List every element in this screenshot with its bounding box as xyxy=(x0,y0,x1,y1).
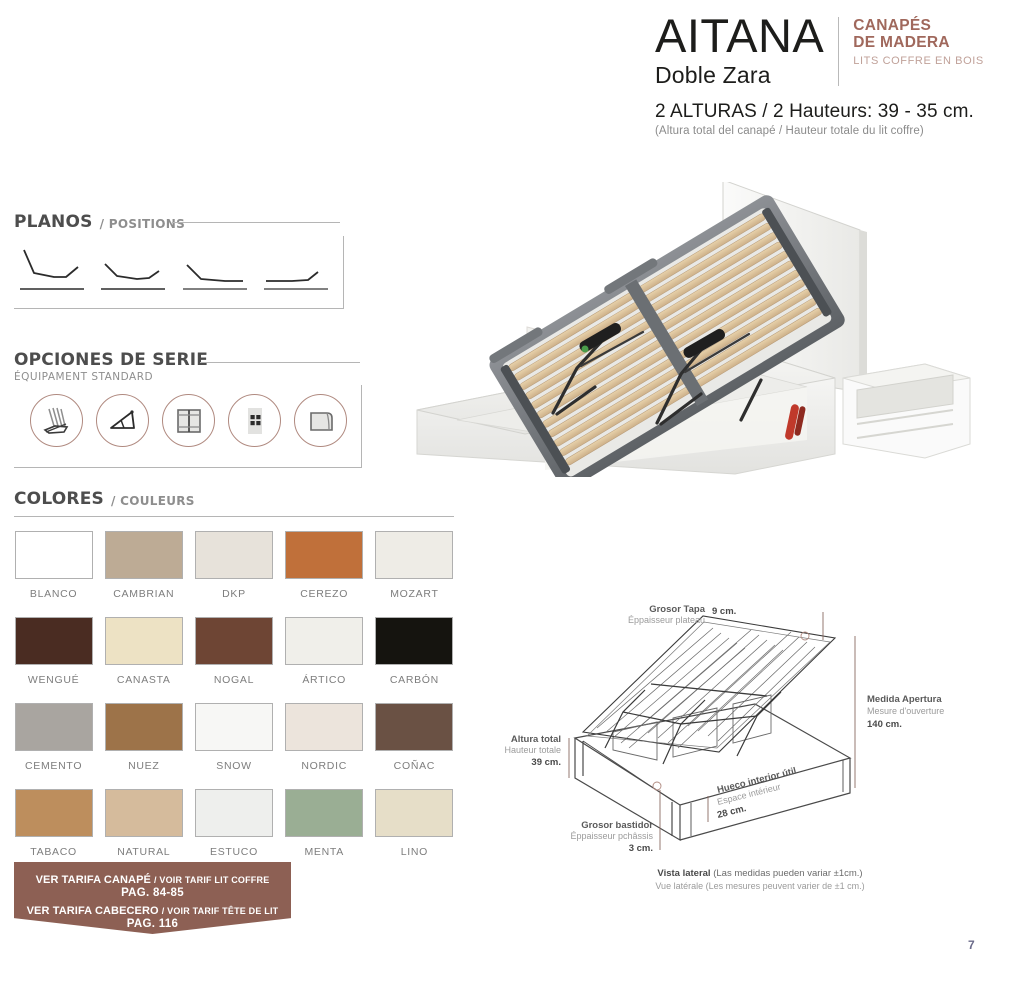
color-swatch[interactable] xyxy=(195,703,273,751)
color-swatch-cell: CEREZO xyxy=(285,531,364,617)
position-diagram-3 xyxy=(181,246,256,299)
color-swatch-label: LINO xyxy=(375,846,454,858)
color-swatch-cell: NOGAL xyxy=(194,617,273,703)
tarifa-line2: VER TARIFA CABECERO / VOIR TARIF TÊTE DE… xyxy=(14,904,291,918)
color-swatch[interactable] xyxy=(375,617,453,665)
color-swatch-grid: BLANCOCAMBRIANDKPCEREZOMOZARTWENGUÉCANAS… xyxy=(14,531,454,875)
bastidor-val: 3 cm. xyxy=(629,843,653,854)
model-name: Doble Zara xyxy=(655,62,824,88)
opciones-title-fr: ÉQUIPAMENT STANDARD xyxy=(14,371,362,383)
color-swatch[interactable] xyxy=(195,531,273,579)
color-swatch-label: CEREZO xyxy=(285,588,364,600)
category-fr: LITS COFFRE EN BOIS xyxy=(853,54,984,69)
planos-box xyxy=(14,236,344,309)
page-number: 7 xyxy=(968,938,975,952)
category-es-line1: CANAPÉS xyxy=(853,17,984,34)
color-swatch-label: ÁRTICO xyxy=(285,674,364,686)
color-swatch[interactable] xyxy=(15,531,93,579)
bastidor-es: Grosor bastidor xyxy=(581,820,653,831)
color-swatch-cell: NORDIC xyxy=(285,703,364,789)
color-swatch-cell: WENGUÉ xyxy=(14,617,93,703)
color-swatch-cell: MOZART xyxy=(375,531,454,617)
tarifa-line2-es: VER TARIFA CABECERO xyxy=(27,905,159,917)
color-swatch-label: TABACO xyxy=(14,846,93,858)
color-swatch-label: MENTA xyxy=(285,846,364,858)
color-swatch-label: DKP xyxy=(194,588,273,600)
color-swatch-cell: CANASTA xyxy=(104,617,183,703)
color-swatch[interactable] xyxy=(285,531,363,579)
color-swatch-cell: CEMENTO xyxy=(14,703,93,789)
apertura-es: Medida Apertura xyxy=(867,694,942,705)
position-diagram-1 xyxy=(18,246,93,299)
opciones-heading: OPCIONES DE SERIE ÉQUIPAMENT STANDARD xyxy=(14,350,362,383)
vista-line-es: Vista lateral (Las medidas pueden variar… xyxy=(560,868,960,879)
vista-es-note: (Las medidas pueden variar ±1cm.) xyxy=(713,868,862,879)
tarifa-line1: VER TARIFA CANAPÉ / VOIR TARIF LIT COFFR… xyxy=(14,873,291,887)
opciones-title-es: OPCIONES DE SERIE xyxy=(14,350,362,370)
color-swatch-cell: COÑAC xyxy=(375,703,454,789)
positions-row xyxy=(14,236,343,299)
heights-text: 2 ALTURAS / 2 Hauteurs: 39 - 35 cm. xyxy=(655,101,1000,123)
altura-es: Altura total xyxy=(511,734,561,745)
tarifa-line1-fr: / VOIR TARIF LIT COFFRE xyxy=(154,875,269,885)
color-swatch-label: WENGUÉ xyxy=(14,674,93,686)
apertura-val: 140 cm. xyxy=(867,719,902,730)
color-swatch[interactable] xyxy=(195,617,273,665)
tarifa-line1-page: PAG. 84-85 xyxy=(14,887,291,899)
color-swatch[interactable] xyxy=(375,789,453,837)
colores-title-fr: / COULEURS xyxy=(111,494,195,509)
color-swatch-label: NUEZ xyxy=(104,760,183,772)
title-block: AITANA Doble Zara CANAPÉS DE MADERA LITS… xyxy=(655,14,1000,88)
position-diagram-4 xyxy=(262,246,337,299)
color-swatch[interactable] xyxy=(375,703,453,751)
grid-panel-icon xyxy=(228,394,281,447)
heights-note: (Altura total del canapé / Hauteur total… xyxy=(655,125,1000,137)
apertura-fr: Mesure d'ouverture xyxy=(867,706,944,716)
color-swatch-label: COÑAC xyxy=(375,760,454,772)
grosor-tapa-fr: Éppaisseur plateau xyxy=(628,615,705,625)
color-swatch[interactable] xyxy=(105,617,183,665)
color-swatch-label: MOZART xyxy=(375,588,454,600)
color-swatch[interactable] xyxy=(15,703,93,751)
color-swatch-label: CEMENTO xyxy=(14,760,93,772)
tarifa-banner[interactable]: VER TARIFA CANAPÉ / VOIR TARIF LIT COFFR… xyxy=(14,862,291,934)
color-swatch[interactable] xyxy=(105,703,183,751)
tarifa-line2-page: PAG. 116 xyxy=(14,918,291,930)
tarifa-line2-fr: / VOIR TARIF TÊTE DE LIT xyxy=(162,906,279,916)
category-block: CANAPÉS DE MADERA LITS COFFRE EN BOIS xyxy=(839,14,984,69)
color-swatch-label: BLANCO xyxy=(14,588,93,600)
color-swatch-cell: DKP xyxy=(194,531,273,617)
color-swatch-label: CAMBRIAN xyxy=(104,588,183,600)
color-swatch[interactable] xyxy=(285,617,363,665)
vista-line-fr: Vue latérale (Les mesures peuvent varier… xyxy=(560,881,960,891)
brand-block: AITANA Doble Zara xyxy=(655,14,838,88)
bastidor-fr: Éppaisseur pchâssis xyxy=(570,831,653,841)
color-swatch-cell: SNOW xyxy=(194,703,273,789)
split-base-icon xyxy=(162,394,215,447)
lift-mechanism-icon xyxy=(96,394,149,447)
planos-title-es: PLANOS xyxy=(14,212,93,232)
colores-heading: COLORES / COULEURS xyxy=(14,489,454,509)
color-swatch-cell: CARBÓN xyxy=(375,617,454,703)
vista-caption: Vista lateral (Las medidas pueden variar… xyxy=(560,868,960,891)
color-swatch[interactable] xyxy=(195,789,273,837)
color-swatch-label: NATURAL xyxy=(104,846,183,858)
product-photo xyxy=(405,182,1005,477)
color-swatch-label: ESTUCO xyxy=(194,846,273,858)
page-header: AITANA Doble Zara CANAPÉS DE MADERA LITS… xyxy=(655,14,1000,137)
color-swatch[interactable] xyxy=(285,789,363,837)
slats-icon xyxy=(30,394,83,447)
color-swatch-label: CANASTA xyxy=(104,674,183,686)
opciones-box xyxy=(14,385,362,468)
altura-fr: Hauteur totale xyxy=(505,745,561,755)
technical-diagram: Grosor Tapa Éppaisseur plateau 9 cm. Med… xyxy=(505,600,995,865)
brand-title: AITANA xyxy=(655,14,824,58)
color-swatch-cell: CAMBRIAN xyxy=(104,531,183,617)
opciones-top-rule xyxy=(200,362,360,363)
color-swatch[interactable] xyxy=(375,531,453,579)
color-swatch[interactable] xyxy=(105,531,183,579)
color-swatch-label: SNOW xyxy=(194,760,273,772)
planos-section: PLANOS / POSITIONS xyxy=(14,212,344,309)
color-swatch-cell: BLANCO xyxy=(14,531,93,617)
colores-title-es: COLORES xyxy=(14,489,104,509)
opciones-icon-row xyxy=(14,385,361,447)
altura-val: 39 cm. xyxy=(531,757,561,768)
tarifa-line1-es: VER TARIFA CANAPÉ xyxy=(36,874,151,886)
position-diagram-2 xyxy=(99,246,174,299)
color-swatch-cell: LINO xyxy=(375,789,454,875)
color-swatch-label: CARBÓN xyxy=(375,674,454,686)
color-swatch-label: NOGAL xyxy=(194,674,273,686)
color-swatch-cell: NUEZ xyxy=(104,703,183,789)
color-swatch-cell: MENTA xyxy=(285,789,364,875)
opciones-section: OPCIONES DE SERIE ÉQUIPAMENT STANDARD xyxy=(14,350,362,468)
layered-corner-icon xyxy=(294,394,347,447)
colores-rule xyxy=(14,516,454,517)
color-swatch[interactable] xyxy=(285,703,363,751)
color-swatch-label: NORDIC xyxy=(285,760,364,772)
color-swatch[interactable] xyxy=(105,789,183,837)
color-swatch-cell: ÁRTICO xyxy=(285,617,364,703)
color-swatch[interactable] xyxy=(15,617,93,665)
colores-section: COLORES / COULEURS BLANCOCAMBRIANDKPCERE… xyxy=(14,489,454,875)
nightstand xyxy=(843,364,970,458)
category-es-line2: DE MADERA xyxy=(853,34,984,51)
grosor-tapa-val: 9 cm. xyxy=(712,606,736,617)
vista-es-bold: Vista lateral xyxy=(657,868,710,879)
planos-title-fr: / POSITIONS xyxy=(100,217,186,232)
planos-top-rule xyxy=(172,222,340,223)
grosor-tapa-es: Grosor Tapa xyxy=(649,604,705,615)
color-swatch[interactable] xyxy=(15,789,93,837)
